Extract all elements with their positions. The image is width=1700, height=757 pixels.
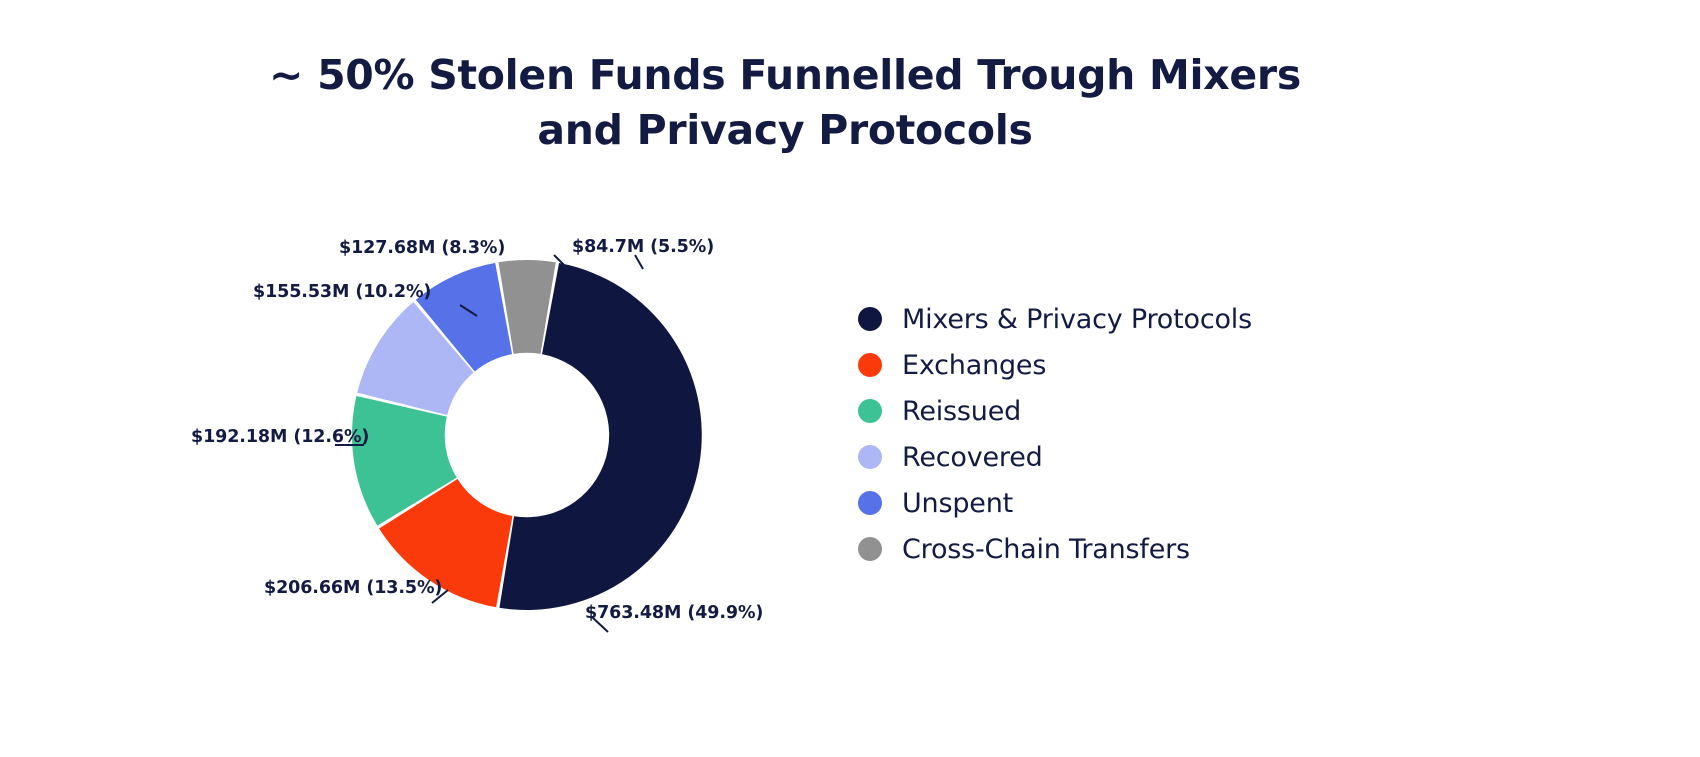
legend-item[interactable]: Cross-Chain Transfers [858, 526, 1378, 572]
legend-item-label: Exchanges [902, 350, 1046, 381]
data-label-recovered: $155.53M (10.2%) [253, 282, 431, 302]
legend-item-label: Recovered [902, 442, 1043, 473]
leader-line-cross-chain [635, 255, 643, 269]
legend-item-label: Unspent [902, 488, 1013, 519]
legend-item[interactable]: Mixers & Privacy Protocols [858, 296, 1378, 342]
legend-swatch-icon [858, 491, 882, 515]
legend-swatch-icon [858, 307, 882, 331]
donut-slice-group [352, 260, 702, 610]
legend-swatch-icon [858, 353, 882, 377]
legend-item[interactable]: Reissued [858, 388, 1378, 434]
data-label-cross-chain: $84.7M (5.5%) [572, 237, 714, 257]
legend-swatch-icon [858, 399, 882, 423]
data-label-unspent: $127.68M (8.3%) [339, 238, 505, 258]
chart-page: ~ 50% Stolen Funds Funnelled Trough Mixe… [0, 0, 1700, 757]
legend-swatch-icon [858, 445, 882, 469]
data-label-mixers: $763.48M (49.9%) [585, 603, 763, 623]
legend-item[interactable]: Recovered [858, 434, 1378, 480]
legend-item[interactable]: Exchanges [858, 342, 1378, 388]
legend-item-label: Reissued [902, 396, 1021, 427]
data-label-exchanges: $206.66M (13.5%) [264, 578, 442, 598]
legend-item[interactable]: Unspent [858, 480, 1378, 526]
page-title: ~ 50% Stolen Funds Funnelled Trough Mixe… [0, 48, 1570, 157]
legend-item-label: Mixers & Privacy Protocols [902, 304, 1252, 335]
legend-item-label: Cross-Chain Transfers [902, 534, 1190, 565]
data-label-reissued: $192.18M (12.6%) [191, 427, 369, 447]
legend-swatch-icon [858, 537, 882, 561]
chart-legend: Mixers & Privacy ProtocolsExchangesReiss… [858, 296, 1378, 572]
